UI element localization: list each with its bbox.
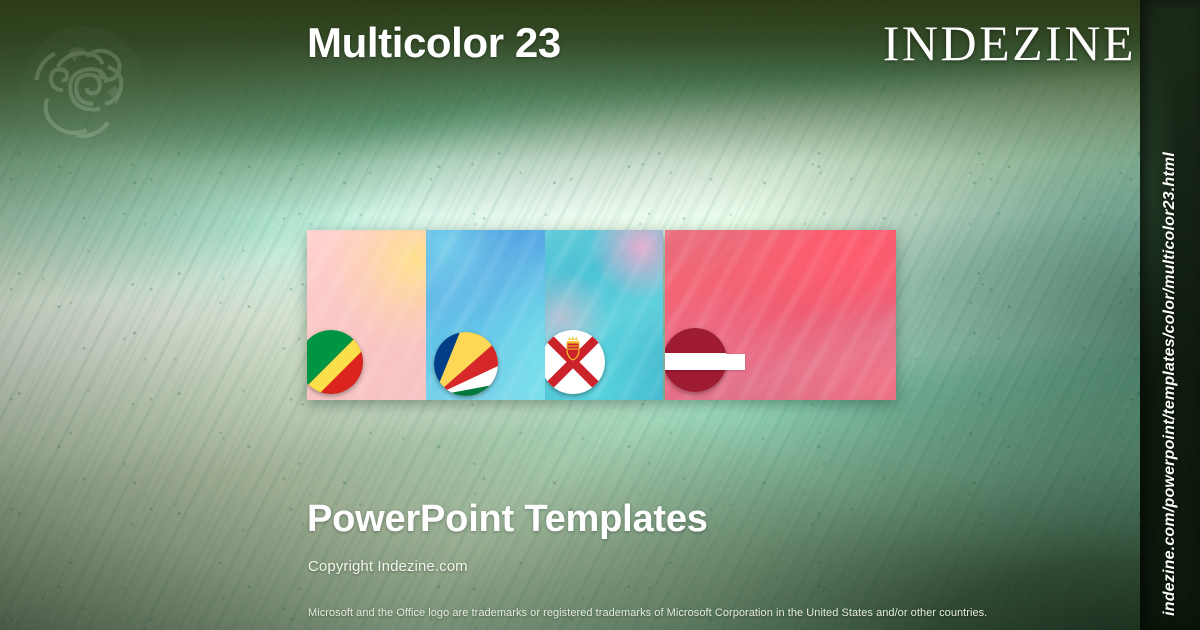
footer-subtitle: PowerPoint Templates [307,498,708,541]
disclaimer-text: Microsoft and the Office logo are tradem… [308,607,987,619]
latvia-stripe-extension [665,354,745,370]
slide-thumbnail-3[interactable] [545,230,664,400]
slide-thumbnail-2[interactable] [426,230,545,400]
jersey-flag-icon [545,330,605,394]
slide-canvas: Multicolor 23 INDEZINE [0,0,1200,630]
seychelles-flag-icon [434,332,498,396]
url-sidebar: indezine.com/powerpoint/templates/color/… [1140,0,1200,630]
page-title: Multicolor 23 [307,19,561,67]
spiral-ornament-icon [18,22,150,154]
url-text[interactable]: indezine.com/powerpoint/templates/color/… [1161,152,1179,616]
thumbnail-strip [307,230,896,400]
copyright-text: Copyright Indezine.com [308,558,468,575]
slide-thumbnail-4[interactable] [665,230,896,400]
slide-thumbnail-1[interactable] [307,230,426,400]
brand-logo-text: INDEZINE [883,14,1136,72]
